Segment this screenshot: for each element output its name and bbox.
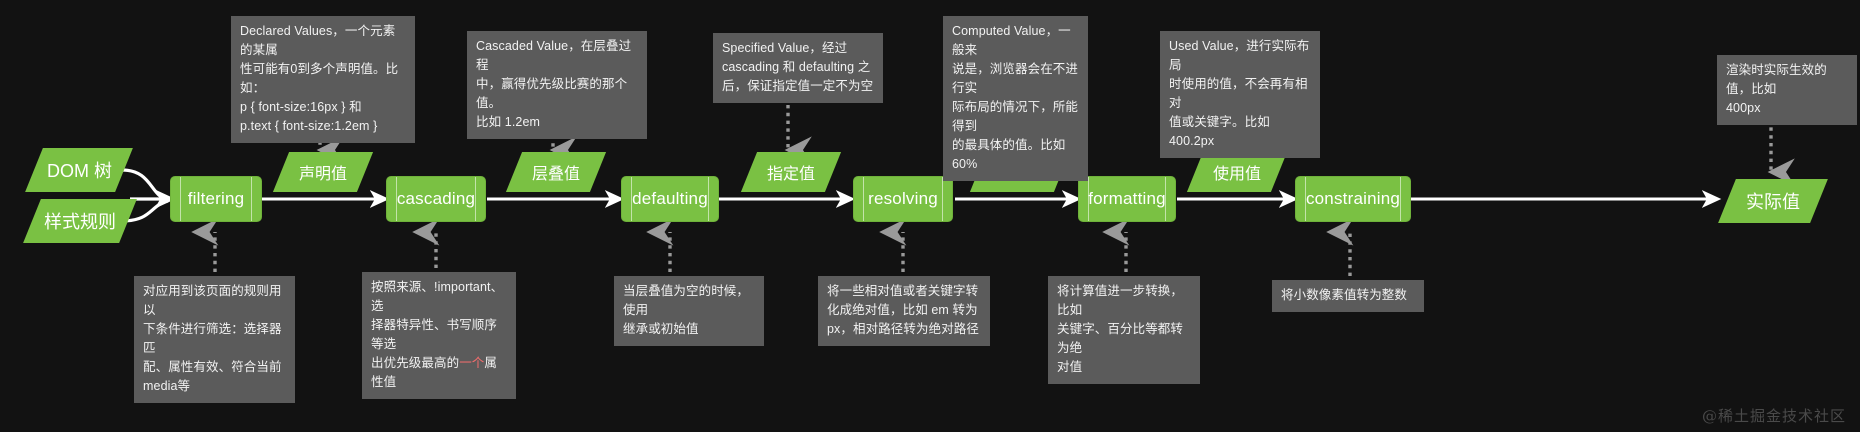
note-declared-values: Declared Values，一个元素的某属 性可能有0到多个声明值。比如： …	[231, 16, 415, 143]
value-specified-label: 指定值	[767, 160, 815, 184]
note-defaulting-detail: 当层叠值为空的时候，使用 继承或初始值	[614, 276, 764, 346]
note-text: 对应用到该页面的规则用以 下条件进行筛选：选择器匹 配、属性有效、符合当前 me…	[143, 284, 282, 393]
note-filtering-detail: 对应用到该页面的规则用以 下条件进行筛选：选择器匹 配、属性有效、符合当前 me…	[134, 276, 295, 403]
value-declared-label: 声明值	[299, 160, 347, 184]
note-specified-value: Specified Value，经过 cascading 和 defaultin…	[713, 33, 883, 103]
value-used-label: 使用值	[1213, 160, 1261, 184]
step-cascading[interactable]: cascading	[386, 176, 486, 222]
note-constraining-detail: 将小数像素值转为整数	[1272, 280, 1424, 312]
input-style-rules[interactable]: 样式规则	[23, 199, 137, 243]
input-dom-tree-label: DOM 树	[47, 157, 112, 183]
note-used-value: Used Value，进行实际布局 时使用的值，不会再有相对 值或关键字。比如 …	[1160, 31, 1320, 158]
step-formatting-label: formatting	[1088, 189, 1166, 209]
watermark: @稀土掘金技术社区	[1702, 405, 1846, 426]
note-cascading-detail: 按照来源、!important、选 择器特异性、书写顺序等选 出优先级最高的一个…	[362, 272, 516, 399]
note-text: 将一些相对值或者关键字转 化成绝对值，比如 em 转为 px，相对路径转为绝对路…	[827, 284, 979, 336]
step-filtering[interactable]: filtering	[170, 176, 262, 222]
value-declared[interactable]: 声明值	[273, 152, 373, 192]
note-cascaded-value: Cascaded Value，在层叠过程 中，赢得优先级比赛的那个值。 比如 1…	[467, 31, 647, 139]
step-cascading-label: cascading	[397, 189, 475, 209]
value-actual[interactable]: 实际值	[1718, 179, 1828, 223]
value-specified[interactable]: 指定值	[741, 152, 841, 192]
input-dom-tree[interactable]: DOM 树	[25, 148, 133, 192]
value-cascaded[interactable]: 层叠值	[506, 152, 606, 192]
value-cascaded-label: 层叠值	[532, 160, 580, 184]
note-actual-value: 渲染时实际生效的值，比如 400px	[1717, 55, 1857, 125]
step-formatting[interactable]: formatting	[1078, 176, 1176, 222]
note-formatting-detail: 将计算值进一步转换，比如 关键字、百分比等都转为绝 对值	[1048, 276, 1200, 384]
note-highlight: 一个	[459, 356, 484, 370]
note-text: 将计算值进一步转换，比如 关键字、百分比等都转为绝 对值	[1057, 284, 1183, 374]
note-resolving-detail: 将一些相对值或者关键字转 化成绝对值，比如 em 转为 px，相对路径转为绝对路…	[818, 276, 990, 346]
step-defaulting-label: defaulting	[632, 189, 708, 209]
diagram-canvas: DOM 树 样式规则 filtering cascading defaultin…	[0, 0, 1860, 432]
note-text: 当层叠值为空的时候，使用 继承或初始值	[623, 284, 749, 336]
note-text: 将小数像素值转为整数	[1281, 288, 1407, 302]
step-filtering-label: filtering	[188, 189, 245, 209]
note-computed-value: Computed Value，一般来 说是，浏览器会在不进行实 际布局的情况下，…	[943, 16, 1088, 181]
value-used[interactable]: 使用值	[1187, 152, 1287, 192]
step-constraining-label: constraining	[1306, 189, 1400, 209]
input-style-rules-label: 样式规则	[44, 208, 116, 234]
step-resolving[interactable]: resolving	[853, 176, 953, 222]
step-resolving-label: resolving	[868, 189, 938, 209]
value-actual-label: 实际值	[1746, 188, 1800, 214]
step-constraining[interactable]: constraining	[1295, 176, 1411, 222]
step-defaulting[interactable]: defaulting	[621, 176, 719, 222]
